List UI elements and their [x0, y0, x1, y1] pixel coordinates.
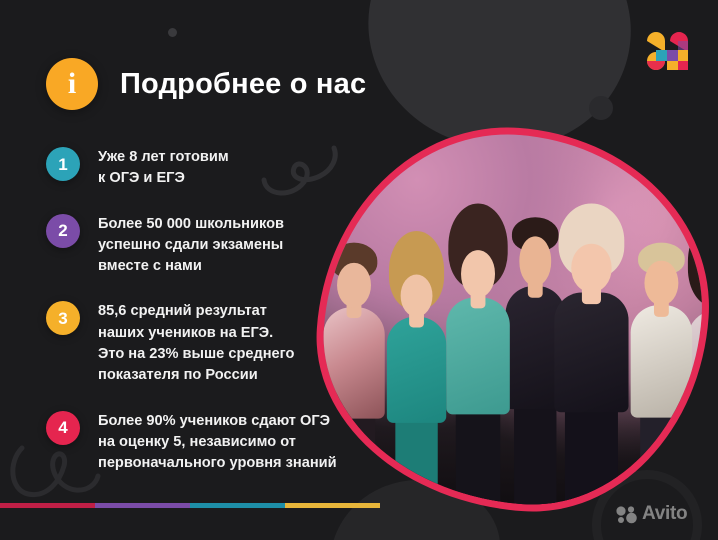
accent-bar-segment-teal	[190, 503, 285, 508]
photo-person	[545, 230, 638, 514]
promo-slide: i Подробнее о нас 1Уже 8 лет готовимк ОГ…	[0, 0, 718, 540]
photo-person-head	[645, 260, 679, 305]
page-title: Подробнее о нас	[120, 68, 366, 101]
photo-person-neck	[710, 300, 713, 321]
photo-person-head	[400, 274, 433, 317]
photo-person-torso	[387, 317, 446, 423]
photo-content	[314, 124, 713, 514]
photo-person-lower	[697, 394, 714, 514]
info-glyph: i	[68, 69, 76, 99]
info-icon: i	[46, 58, 98, 110]
background-dot-small	[168, 28, 177, 37]
slide-header: i Подробнее о нас	[46, 58, 366, 110]
photo-person-torso	[447, 297, 510, 414]
accent-bar-segment-yellow	[285, 503, 380, 508]
background-dot-medium	[589, 96, 613, 120]
team-photo	[318, 128, 708, 510]
avito-watermark: Avito	[616, 503, 687, 525]
list-item-text: Более 50 000 школьниковуспешно сдали экз…	[98, 213, 284, 278]
photo-person-torso	[631, 306, 692, 418]
photo-mask	[313, 122, 714, 515]
list-item-number-badge: 1	[46, 147, 80, 181]
photo-person	[316, 249, 392, 514]
photo-person-head	[337, 262, 371, 307]
photo-person-torso	[554, 292, 629, 411]
list-item-number-badge: 3	[46, 301, 80, 335]
list-item-number-badge: 2	[46, 214, 80, 248]
avito-label: Avito	[642, 503, 687, 525]
avito-dots-icon	[616, 505, 637, 524]
photo-person-head	[571, 244, 612, 292]
brand-logo-icon	[645, 30, 695, 72]
photo-person-head	[461, 250, 495, 297]
accent-bar	[0, 503, 380, 508]
list-item-text: Более 90% учеников сдают ОГЭна оценку 5,…	[98, 410, 337, 475]
list-item-text: Уже 8 лет готовимк ОГЭ и ЕГЭ	[98, 146, 229, 190]
list-item-number-badge: 4	[46, 411, 80, 445]
list-item-text: 85,6 средний результатнаших учеников на …	[98, 300, 294, 386]
accent-bar-segment-purple	[95, 503, 190, 508]
accent-bar-segment-crimson	[0, 503, 95, 508]
photo-person-torso	[323, 307, 384, 418]
